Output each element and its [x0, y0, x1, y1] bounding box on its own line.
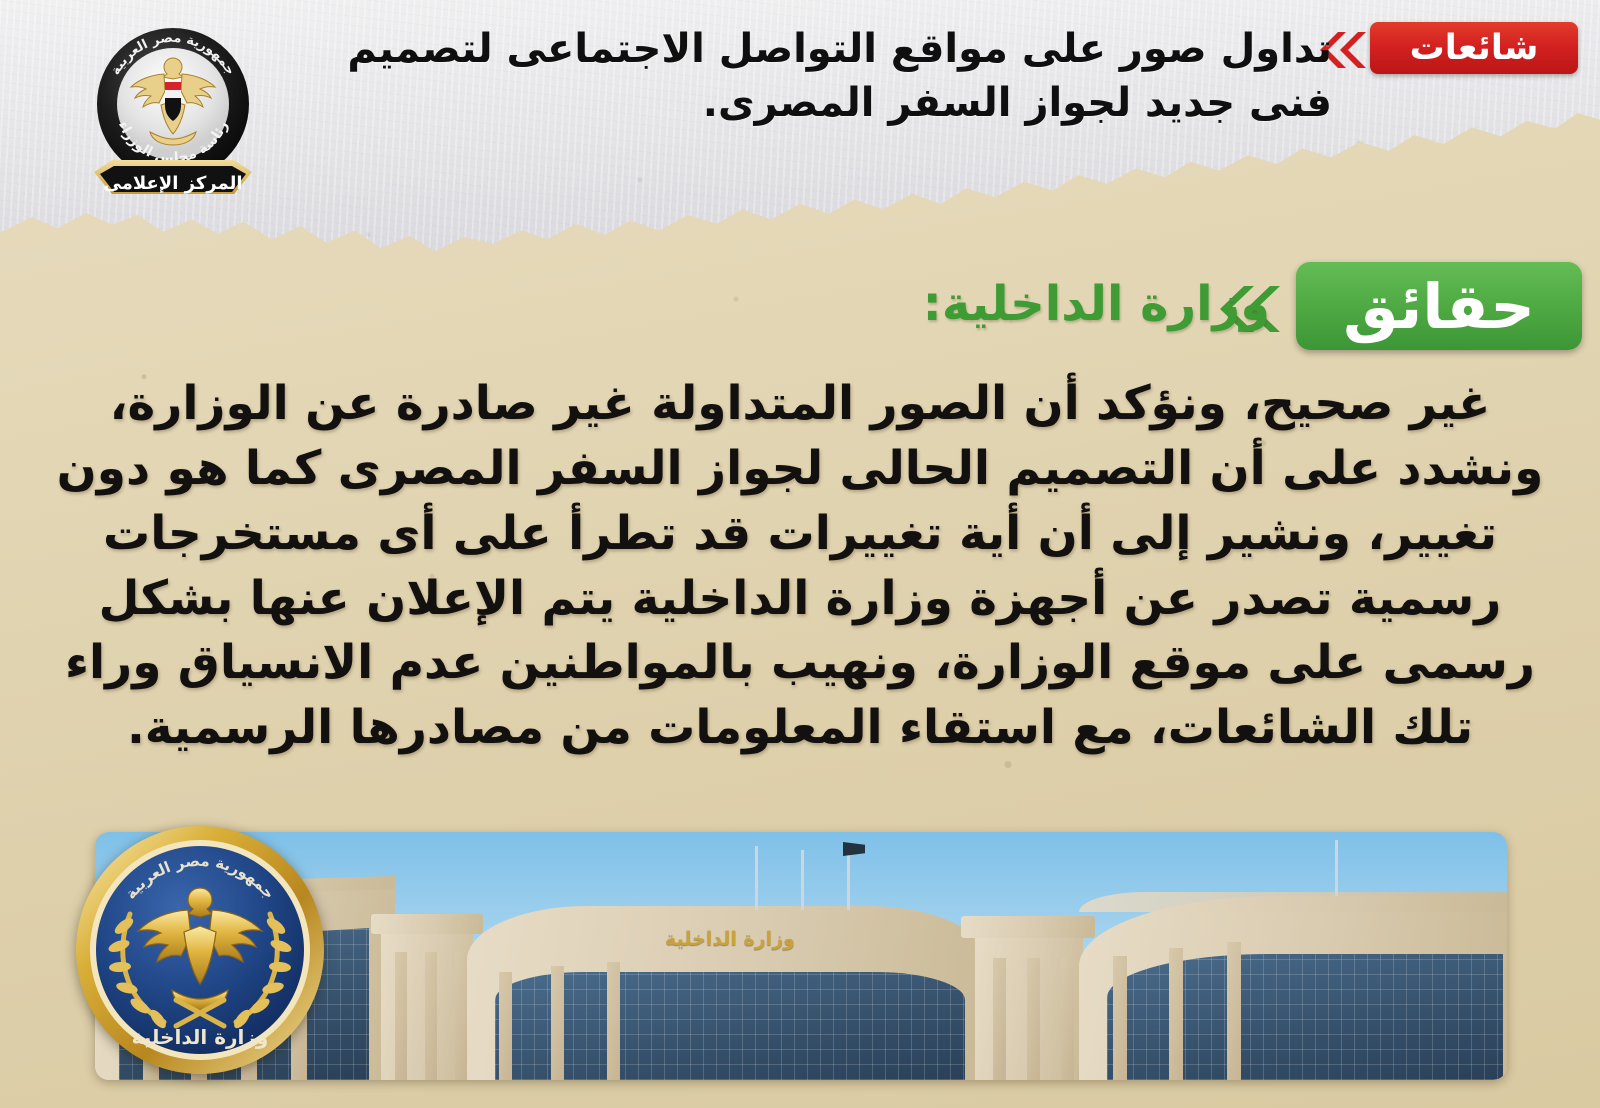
cabinet-ribbon-text: المركز الإعلامى — [103, 173, 242, 194]
egypt-ministry-of-interior-emblem: جمهورية مصر العربية وزارة الداخلية — [72, 822, 328, 1078]
facts-source-label: وزارة الداخلية: — [750, 278, 1270, 331]
facts-badge: حقائق — [1296, 262, 1582, 350]
interior-emblem-bottom-text: وزارة الداخلية — [132, 1025, 269, 1049]
facts-badge-label: حقائق — [1343, 270, 1535, 343]
infographic-page: جمهورية مصر العربية رئاسة مجلس الوزراء ا… — [0, 0, 1600, 1108]
rumors-badge-label: شائعات — [1410, 28, 1539, 68]
facts-body-text: غير صحيح، ونؤكد أن الصور المتداولة غير ص… — [40, 372, 1560, 761]
rumor-text: تداول صور على مواقع التواصل الاجتماعى لت… — [272, 22, 1332, 131]
rumors-badge: شائعات — [1370, 22, 1578, 74]
egypt-cabinet-media-center-logo: جمهورية مصر العربية رئاسة مجلس الوزراء ا… — [78, 22, 268, 207]
building-facade-text: وزارة الداخلية — [565, 924, 895, 954]
